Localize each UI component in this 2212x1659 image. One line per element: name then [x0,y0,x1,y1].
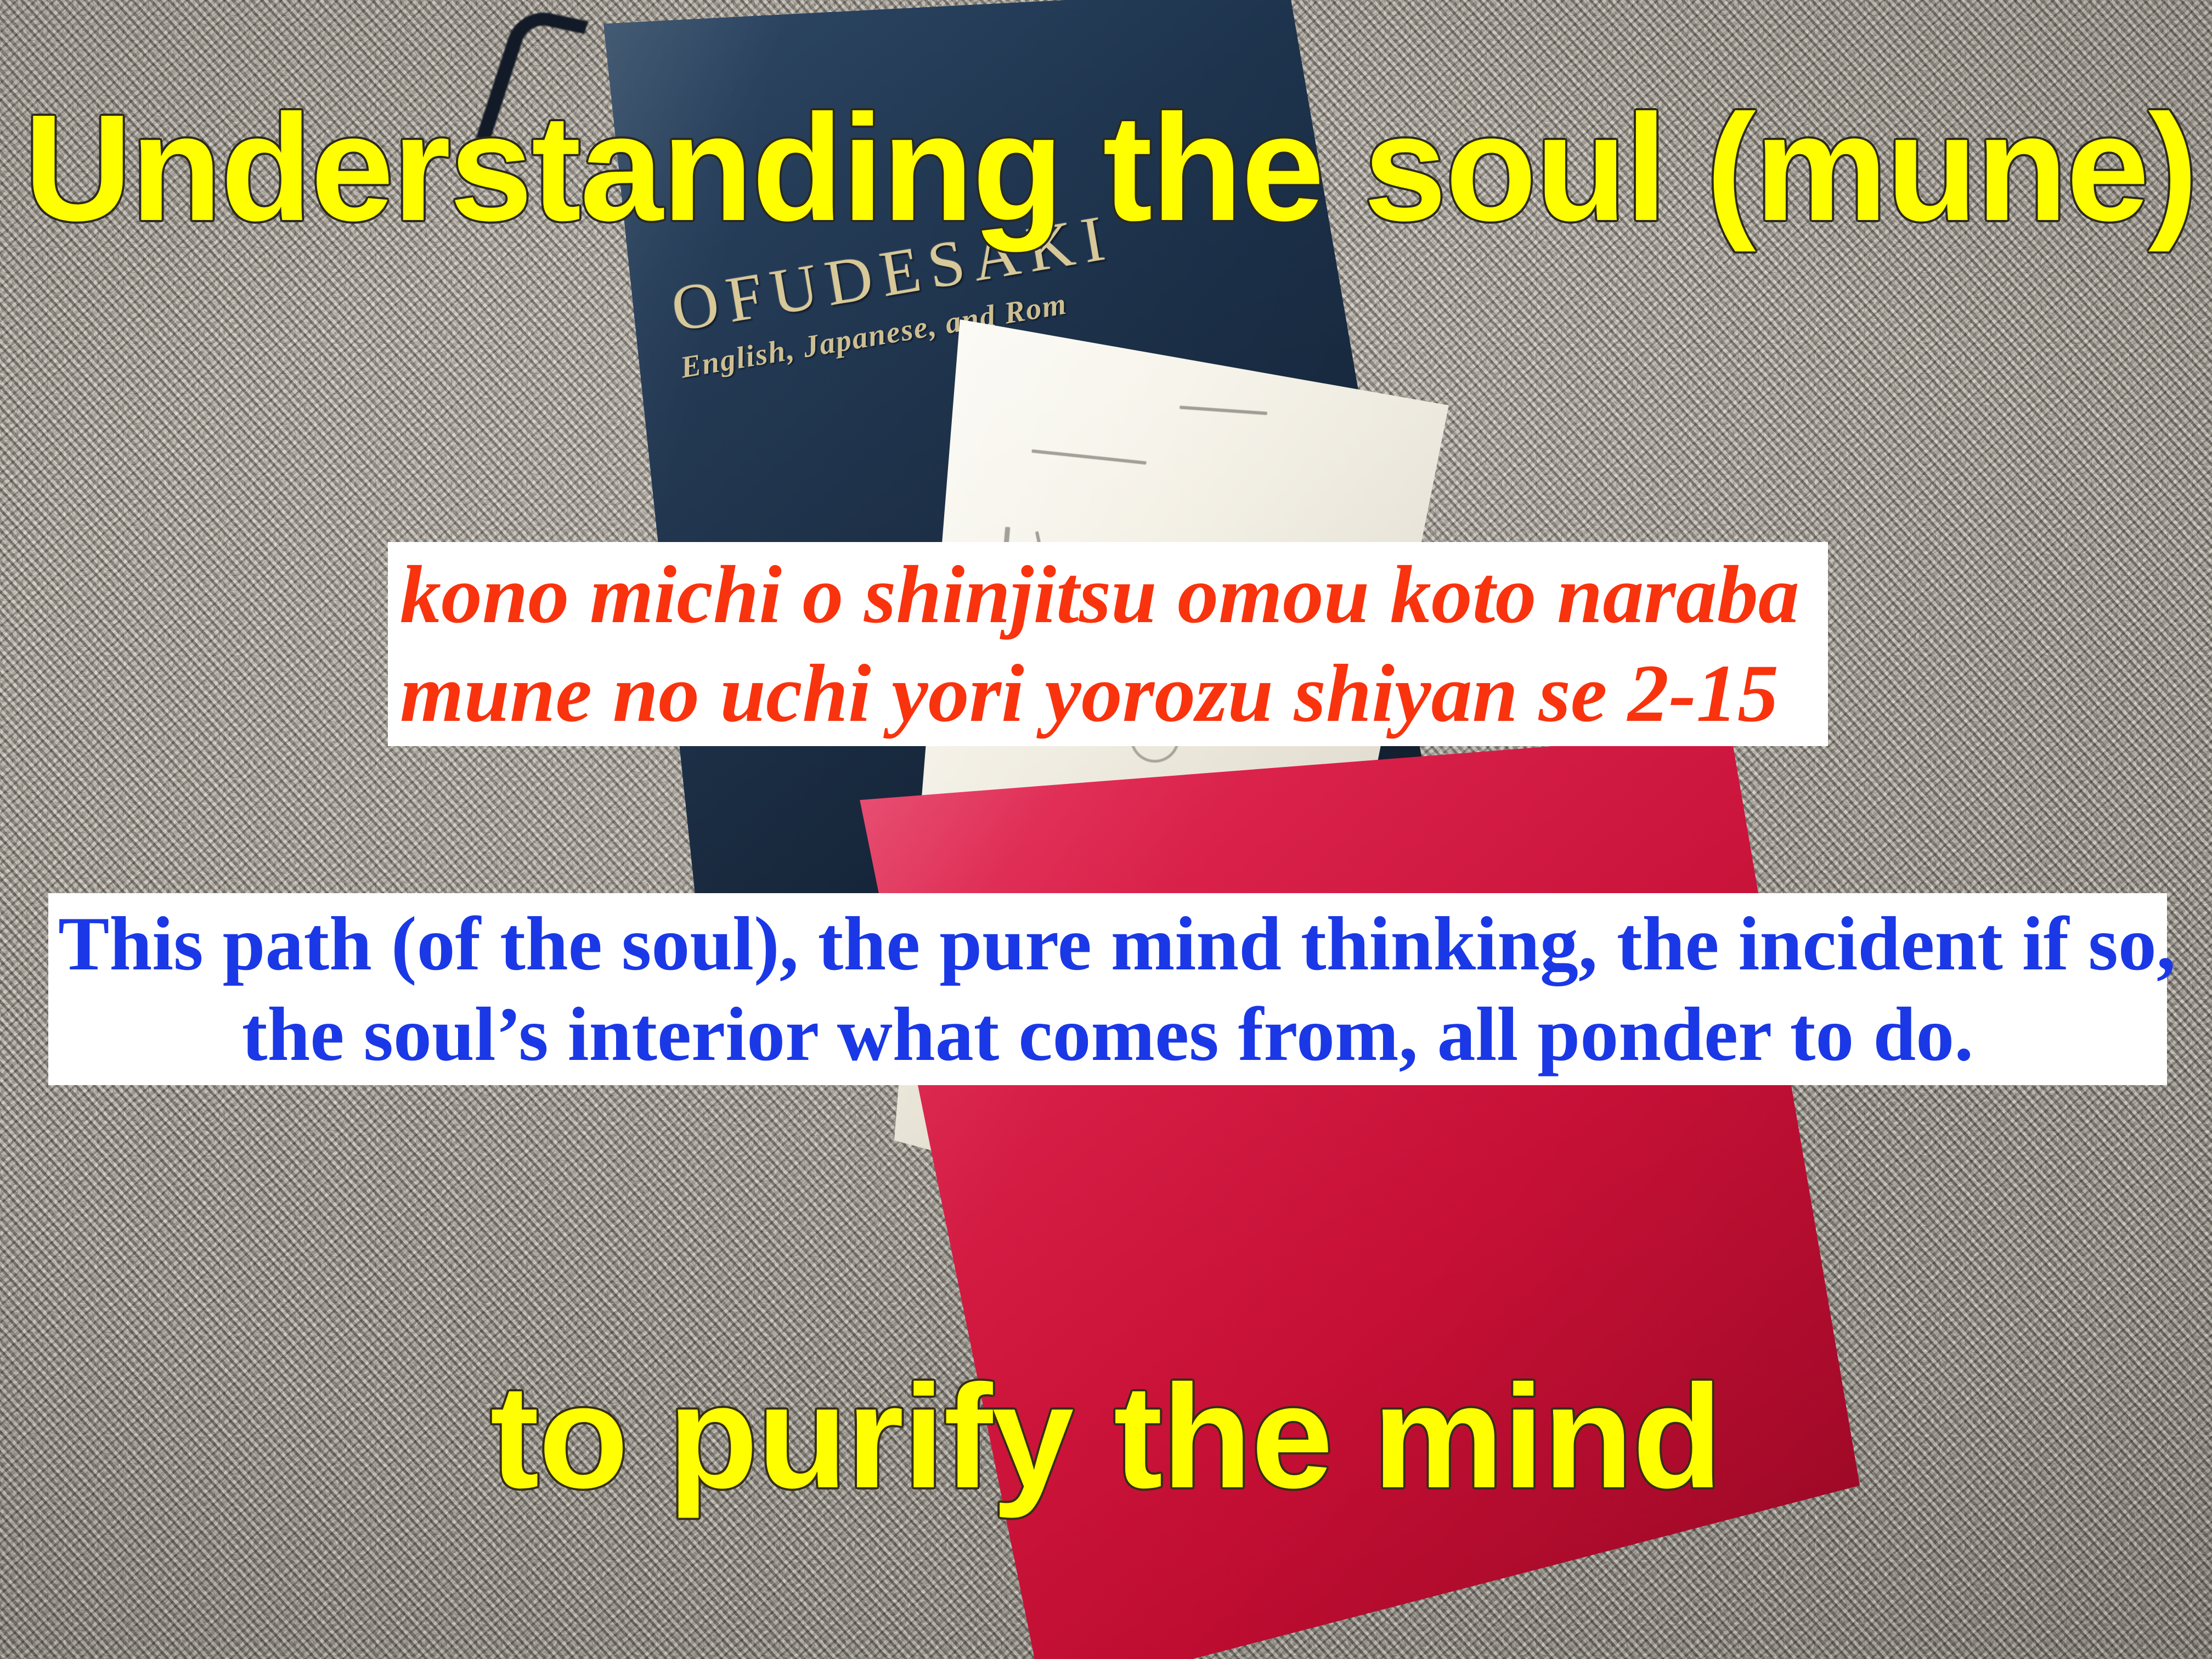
romaji-line-1: kono michi o shinjitsu omou koto naraba [396,545,1820,644]
romaji-line-2: mune no uchi yori yorozu shiyan se 2-15 [396,644,1820,743]
page-title-bottom: to purify the mind [0,1363,2212,1510]
romaji-verse-box: kono michi o shinjitsu omou koto naraba … [388,542,1828,746]
translation-line-2: the soul’s interior what comes from, all… [58,989,2157,1080]
page-title-top: Understanding the soul (mune) [24,92,2164,244]
translation-line-1: This path (of the soul), the pure mind t… [58,899,2157,989]
translation-box: This path (of the soul), the pure mind t… [48,893,2167,1085]
slide-canvas: OFUDESAKI English, Japanese, and Rom OFU… [0,0,2212,1659]
